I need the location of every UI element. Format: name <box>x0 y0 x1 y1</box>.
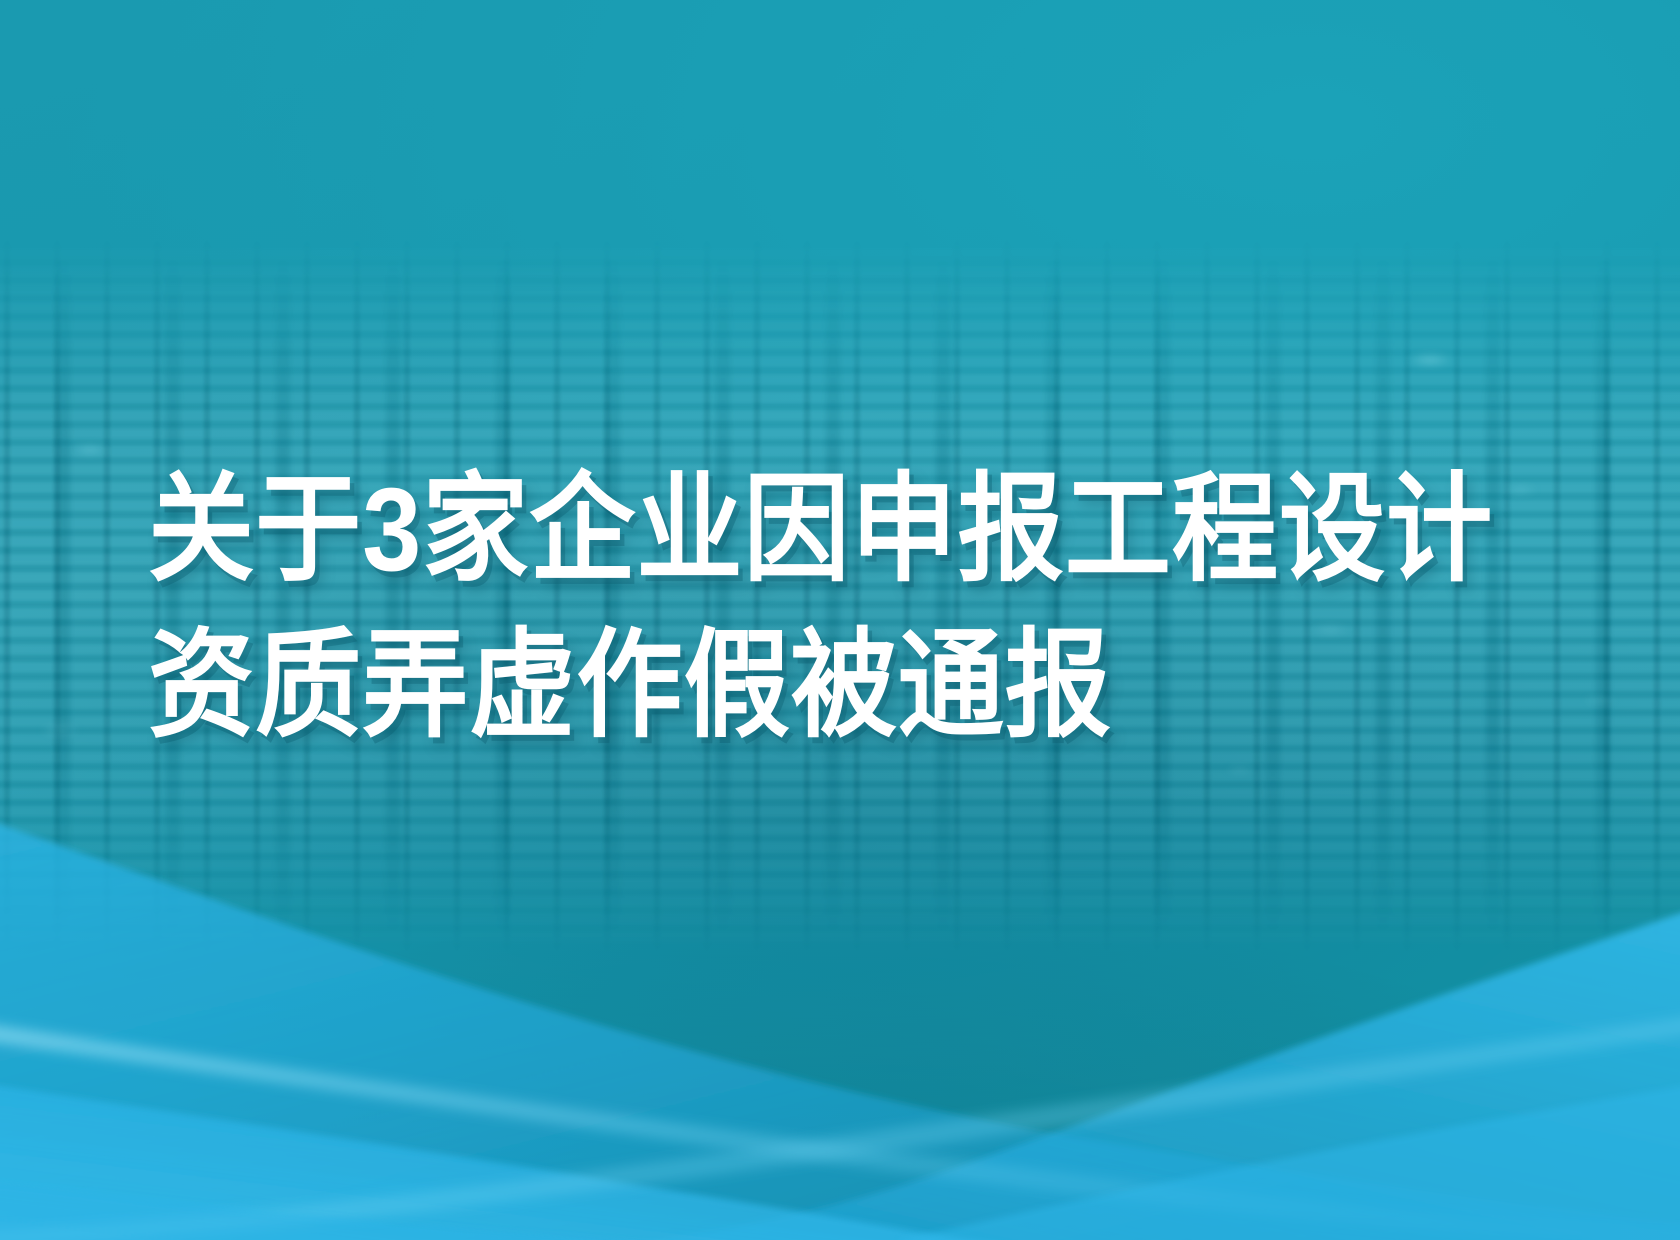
headline-block: 关于3家企业因申报工程设计 资质弄虚作假被通报 <box>148 452 1568 764</box>
poster-canvas: 关于3家企业因申报工程设计 资质弄虚作假被通报 <box>0 0 1680 1240</box>
headline-line-1: 关于3家企业因申报工程设计 <box>148 452 1426 608</box>
headline-line-2: 资质弄虚作假被通报 <box>148 608 1426 764</box>
